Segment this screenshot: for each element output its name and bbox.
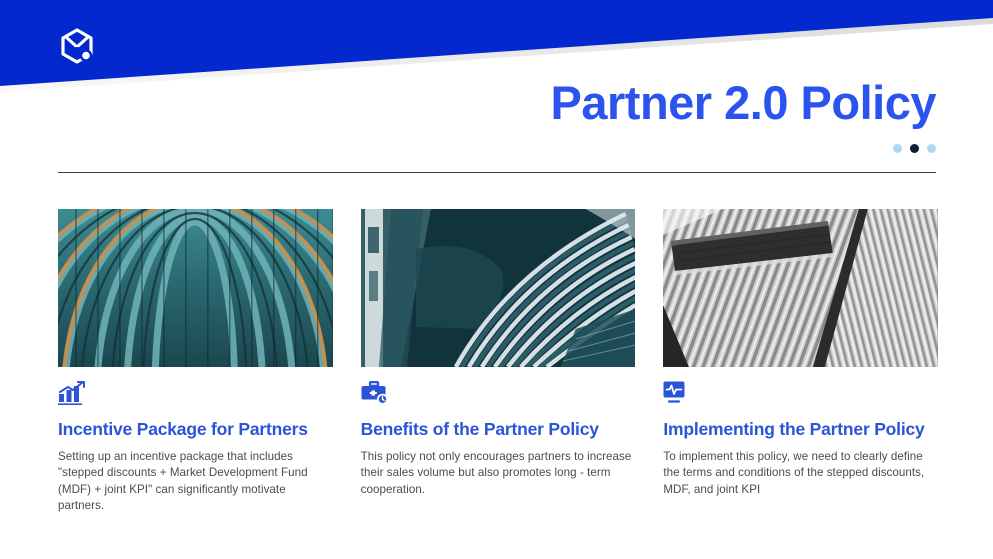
header-divider — [58, 172, 936, 173]
pager-dot-1[interactable] — [893, 144, 902, 153]
monitor-pulse-icon — [663, 381, 691, 405]
page-title: Partner 2.0 Policy — [551, 78, 936, 127]
card-benefits[interactable]: Benefits of the Partner Policy This poli… — [361, 209, 636, 515]
pager-dots — [893, 144, 936, 153]
card-body: To implement this policy, we need to cle… — [663, 449, 938, 498]
slide-root: Partner 2.0 Policy — [0, 0, 993, 559]
circular-atrium-building-photo — [58, 209, 333, 367]
card-incentive-package[interactable]: Incentive Package for Partners Setting u… — [58, 209, 333, 515]
card-body: Setting up an incentive package that inc… — [58, 449, 333, 515]
pager-dot-3[interactable] — [927, 144, 936, 153]
card-implementing[interactable]: Implementing the Partner Policy To imple… — [663, 209, 938, 515]
card-title: Implementing the Partner Policy — [663, 419, 938, 440]
corrugated-metal-facade-photo — [663, 209, 938, 367]
bar-chart-growth-icon — [58, 381, 86, 405]
card-title: Benefits of the Partner Policy — [361, 419, 636, 440]
card-body: This policy not only encourages partners… — [361, 449, 636, 498]
card-title: Incentive Package for Partners — [58, 419, 333, 440]
cube-logo[interactable] — [56, 26, 98, 68]
curved-modern-architecture-photo — [361, 209, 636, 367]
card-row: Incentive Package for Partners Setting u… — [58, 209, 938, 515]
pager-dot-2[interactable] — [910, 144, 919, 153]
briefcase-clock-icon — [361, 381, 389, 405]
